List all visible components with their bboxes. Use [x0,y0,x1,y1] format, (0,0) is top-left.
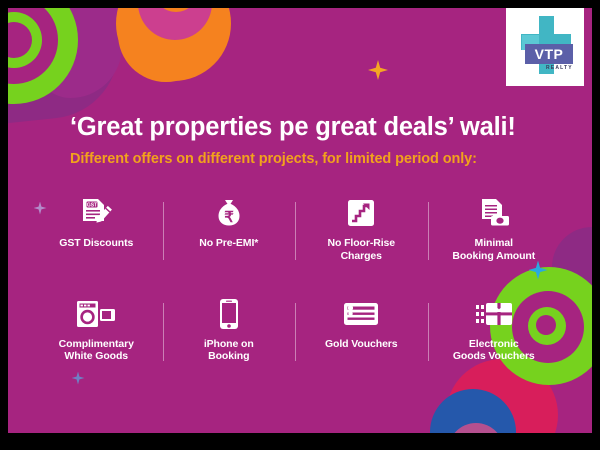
swirl-green-core2-decoration [8,22,32,58]
logo-subtitle: REALTY [546,65,573,71]
offer-item[interactable]: ElectronicGoods Vouchers [428,297,561,364]
sparkle-orange-top-icon [368,60,388,80]
circle-crimson-decoration [446,359,558,433]
offers-row-2: ComplimentaryWhite Goods iPhone onBookin… [30,297,560,364]
vtp-realty-logo: VTP REALTY [506,8,584,86]
offers-grid: GST GST Discounts ₹ No Pre-EMI* No Floor… [30,196,560,363]
swirl-orange-core-decoration [154,8,198,12]
document-cash-icon [477,196,511,230]
offer-label: ElectronicGoods Vouchers [453,338,535,364]
voucher-card-icon [343,297,379,331]
swirl-magenta-decoration [36,8,122,98]
swirl-orange-decoration [116,8,231,81]
offer-label: ComplimentaryWhite Goods [59,338,134,364]
swirl-green-decoration [8,8,78,104]
offer-item[interactable]: ₹ No Pre-EMI* [163,196,296,263]
sparkle-blue-bottom-icon [72,372,85,385]
swirl-green-inner-decoration [8,8,58,84]
offer-item[interactable]: iPhone onBooking [163,297,296,364]
offer-item[interactable]: No Floor-RiseCharges [295,196,428,263]
offer-label: GST Discounts [59,237,133,250]
logo-wordmark-band: VTP [525,44,573,64]
offer-label: Gold Vouchers [325,338,398,351]
swirl-orange-inner-decoration [138,8,212,40]
swirl-purple-band-decoration [8,8,125,124]
swirl-orange-tail-decoration [118,8,214,82]
swirl-green-core-decoration [8,12,42,68]
poster-canvas: VTP REALTY ‘Great properties pe great de… [8,8,592,433]
offer-label: iPhone onBooking [204,338,254,364]
rising-stairs-arrow-icon [346,196,376,230]
offer-label: No Pre-EMI* [199,237,258,250]
smartphone-icon [219,297,239,331]
logo-wordmark: VTP [535,47,564,61]
svg-text:₹: ₹ [224,209,234,226]
gift-ticket-icon [475,297,513,331]
offers-row-1: GST GST Discounts ₹ No Pre-EMI* No Floor… [30,196,560,263]
offer-label: MinimalBooking Amount [452,237,535,263]
offer-label: No Floor-RiseCharges [327,237,395,263]
svg-text:GST: GST [87,203,97,209]
circle-blue-decoration [430,389,516,433]
page-title: ‘Great properties pe great deals’ wali! [70,113,540,142]
offer-item[interactable]: MinimalBooking Amount [428,196,561,263]
washing-machine-microwave-icon [76,297,116,331]
circle-magenta-decoration [448,423,504,433]
money-bag-rupee-icon: ₹ [213,196,245,230]
offer-item[interactable]: GST GST Discounts [30,196,163,263]
page-subtitle: Different offers on different projects, … [70,151,550,167]
document-gst-pencil-icon: GST [79,196,113,230]
offer-item[interactable]: Gold Vouchers [295,297,428,364]
offer-item[interactable]: ComplimentaryWhite Goods [30,297,163,364]
